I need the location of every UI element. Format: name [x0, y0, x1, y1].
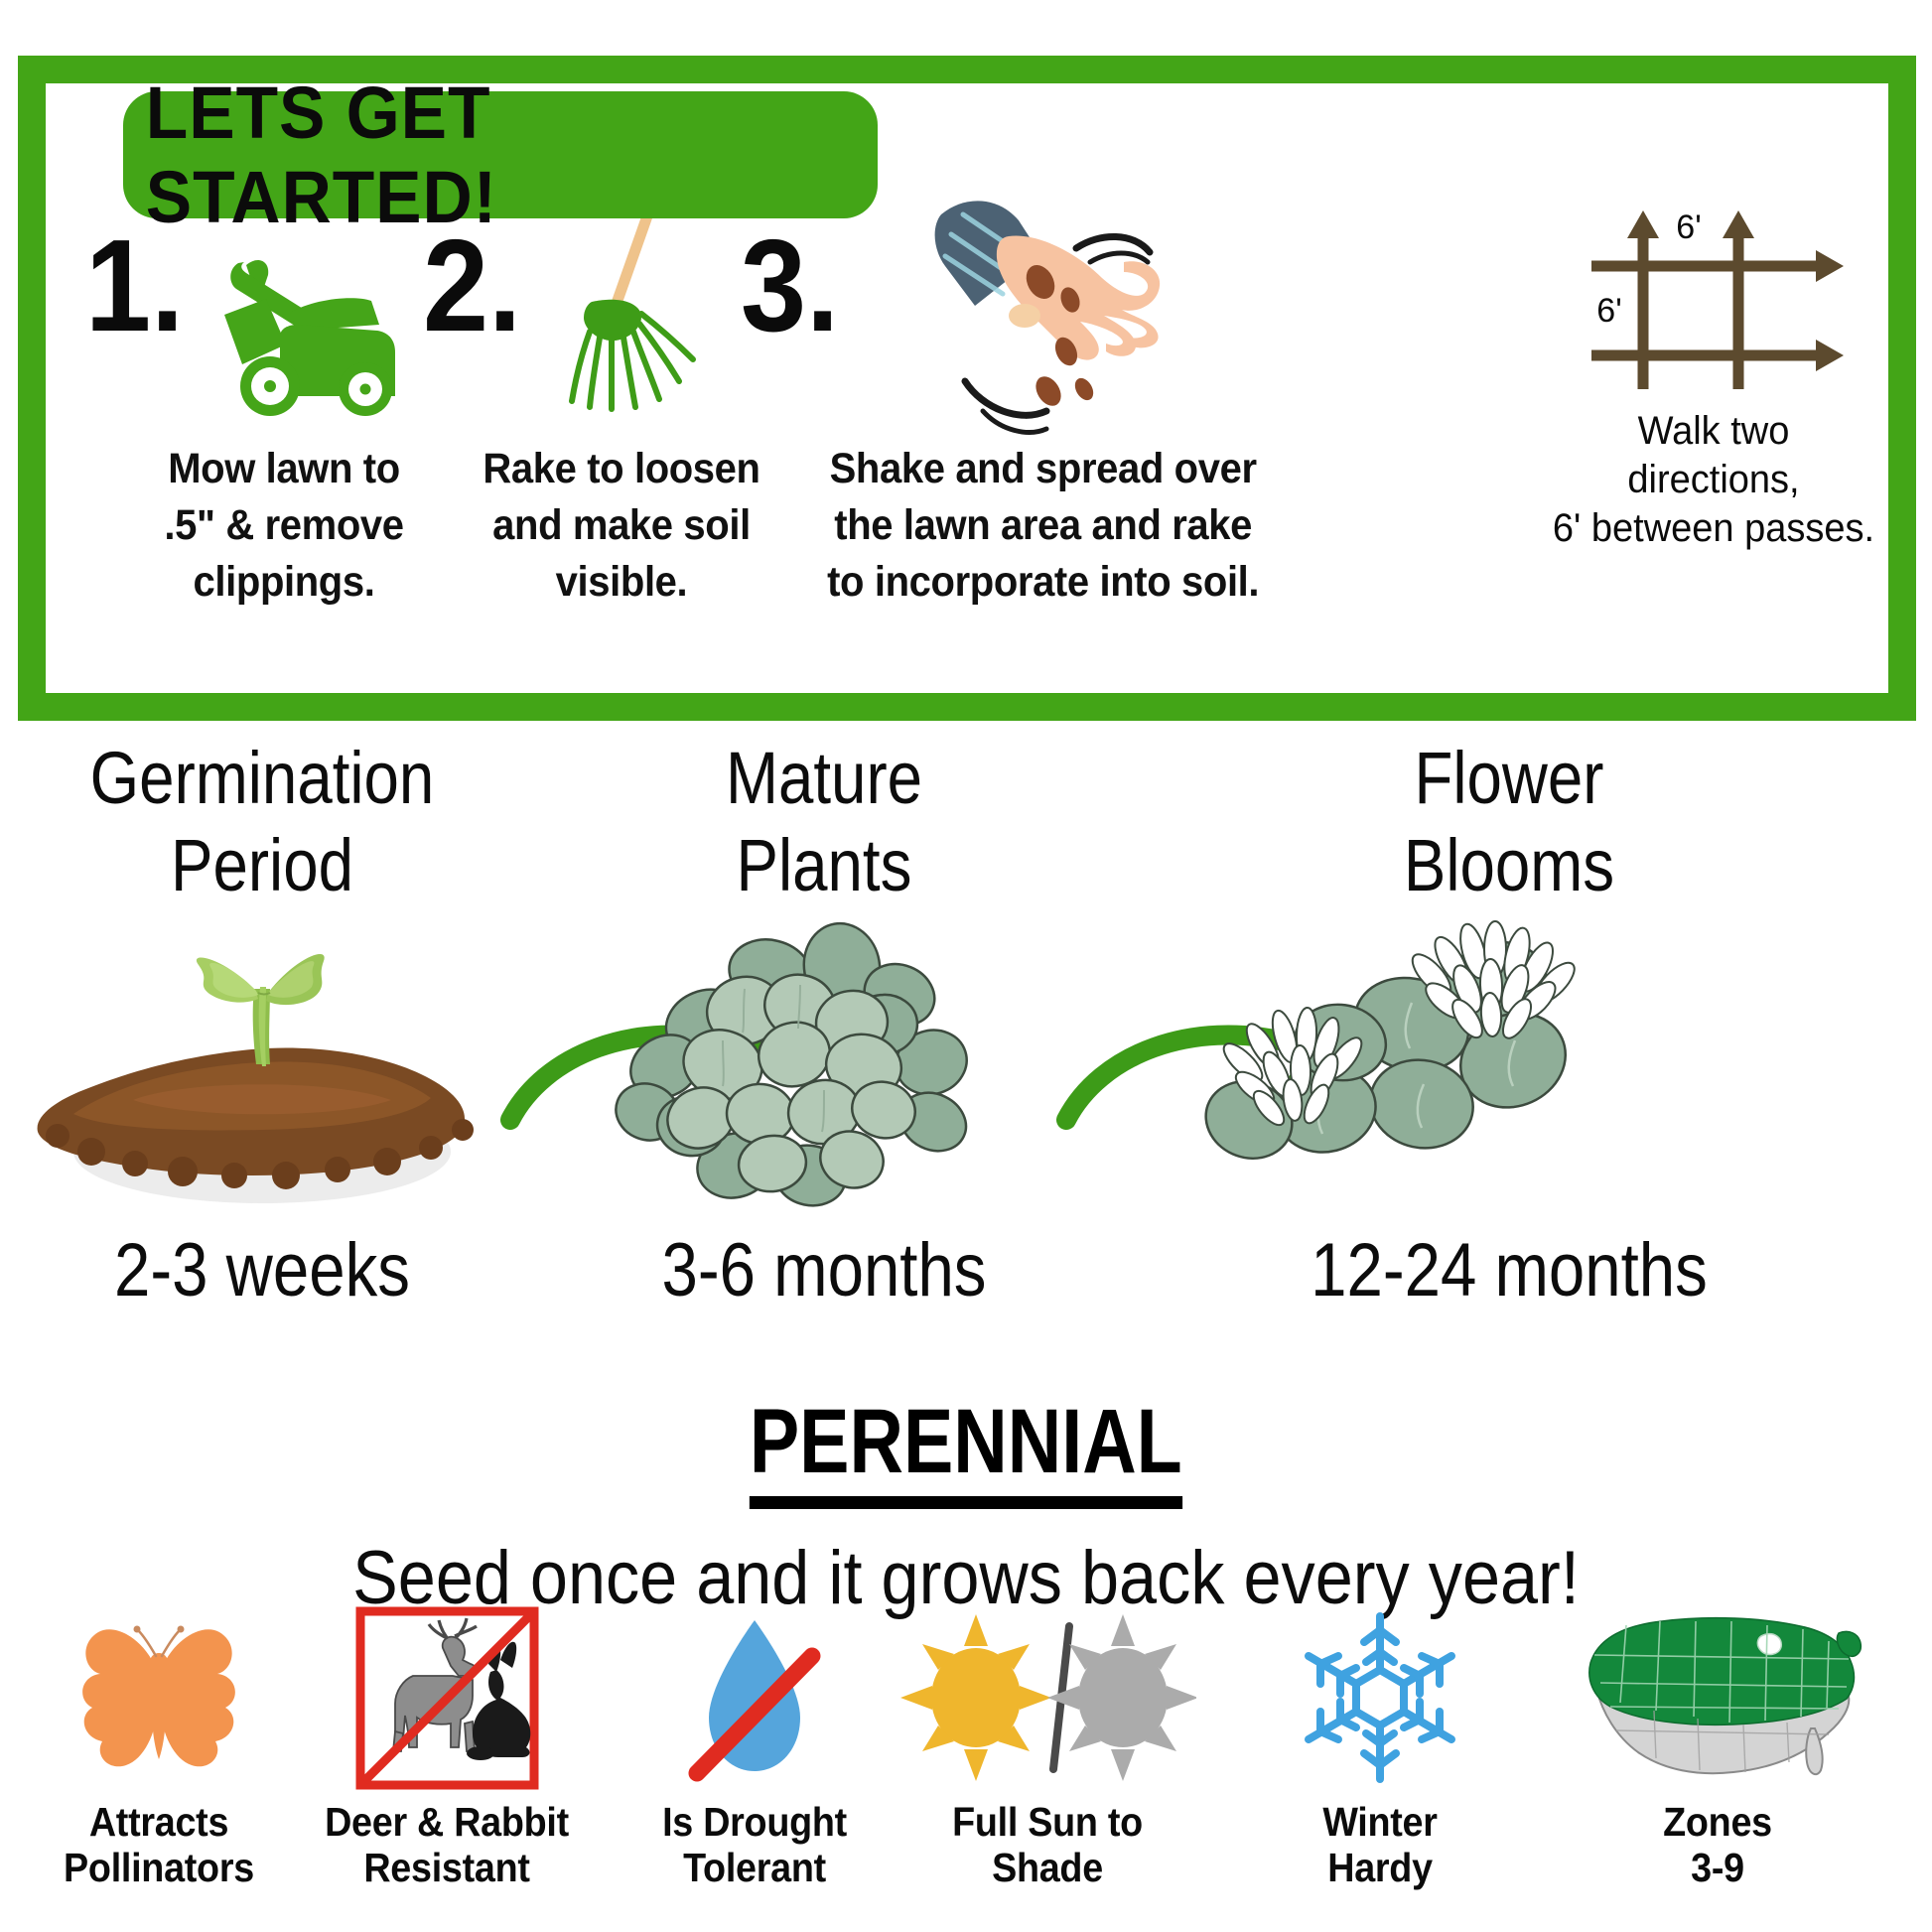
butterfly-icon [65, 1616, 253, 1785]
clover-flowers-icon [1112, 915, 1906, 1213]
infographic-page: LETS GET STARTED! 1. [0, 0, 1932, 1932]
lets-get-started-badge: LETS GET STARTED! [123, 91, 878, 218]
perennial-section: PERENNIAL Seed once and it grows back ev… [0, 1390, 1932, 1621]
lets-get-started-panel: LETS GET STARTED! 1. [18, 56, 1916, 721]
perennial-title: PERENNIAL [750, 1390, 1182, 1509]
steps-row: 1. [46, 193, 1888, 719]
walking-grid-icon: 6' 6' [1515, 205, 1912, 403]
feature-deer-rabbit-resistant: Deer & Rabbit Resistant [288, 1608, 606, 1891]
feature-winter-hardy-label: Winter Hardy [1243, 1800, 1517, 1891]
stage-germination-duration: 2-3 weeks [49, 1227, 476, 1313]
feature-zones: Zones 3-9 [1509, 1608, 1926, 1891]
feature-deer-rabbit-resistant-label: Deer & Rabbit Resistant [301, 1800, 593, 1891]
clover-leaves-cluster-icon [586, 915, 1062, 1213]
stage-flower-title: Flower Blooms [1168, 735, 1851, 909]
feature-attracts-pollinators: Attracts Pollinators [0, 1608, 318, 1891]
feature-zones-label: Zones 3-9 [1526, 1800, 1909, 1891]
sun-shade-icon [898, 1608, 1196, 1792]
feature-drought-tolerant: Is Drought Tolerant [596, 1608, 913, 1891]
step-3: 3. [741, 193, 1336, 612]
feature-winter-hardy: Winter Hardy [1231, 1608, 1529, 1891]
walk-caption: Walk two directions, 6' between passes. [1525, 407, 1902, 552]
feature-attracts-pollinators-label: Attracts Pollinators [13, 1800, 305, 1891]
water-drop-no-icon [673, 1606, 837, 1795]
lets-get-started-label: LETS GET STARTED! [146, 70, 855, 239]
feature-full-sun-to-shade-label: Full Sun to Shade [888, 1800, 1207, 1891]
walk-diagram: 6' 6' Walk two directions, 6' between pa… [1515, 205, 1912, 552]
snowflake-icon [1291, 1608, 1469, 1792]
feature-full-sun-to-shade: Full Sun to Shade [874, 1608, 1221, 1891]
feature-drought-tolerant-label: Is Drought Tolerant [609, 1800, 900, 1891]
stage-flower-blooms: Flower Blooms [1112, 735, 1906, 1313]
usa-zone-map-icon [1569, 1611, 1866, 1790]
step-1-text: Mow lawn to .5" & remove clippings. [99, 441, 469, 612]
stage-germination-title: Germination Period [49, 735, 476, 909]
step-1-number: 1. [85, 220, 184, 351]
seedling-in-soil-icon [14, 915, 510, 1213]
stage-flower-duration: 12-24 months [1168, 1227, 1851, 1313]
lawn-mower-icon [195, 247, 403, 426]
feature-row: Attracts Pollinators [0, 1608, 1932, 1932]
growth-stages: Germination Period [0, 735, 1932, 1350]
step-2-number: 2. [423, 220, 521, 351]
hand-spreading-seeds-icon [880, 175, 1177, 468]
walk-spacing-left-label: 6' [1596, 292, 1621, 330]
deer-rabbit-no-icon [355, 1606, 539, 1795]
stage-mature-plants: Mature Plants [586, 735, 1062, 1313]
walk-spacing-top-label: 6' [1676, 208, 1701, 246]
step-3-text: Shake and spread over the lawn area and … [761, 441, 1315, 612]
stage-mature-title: Mature Plants [620, 735, 1030, 909]
step-3-number: 3. [741, 220, 839, 351]
stage-germination: Germination Period [14, 735, 510, 1313]
stage-mature-duration: 3-6 months [620, 1227, 1030, 1313]
